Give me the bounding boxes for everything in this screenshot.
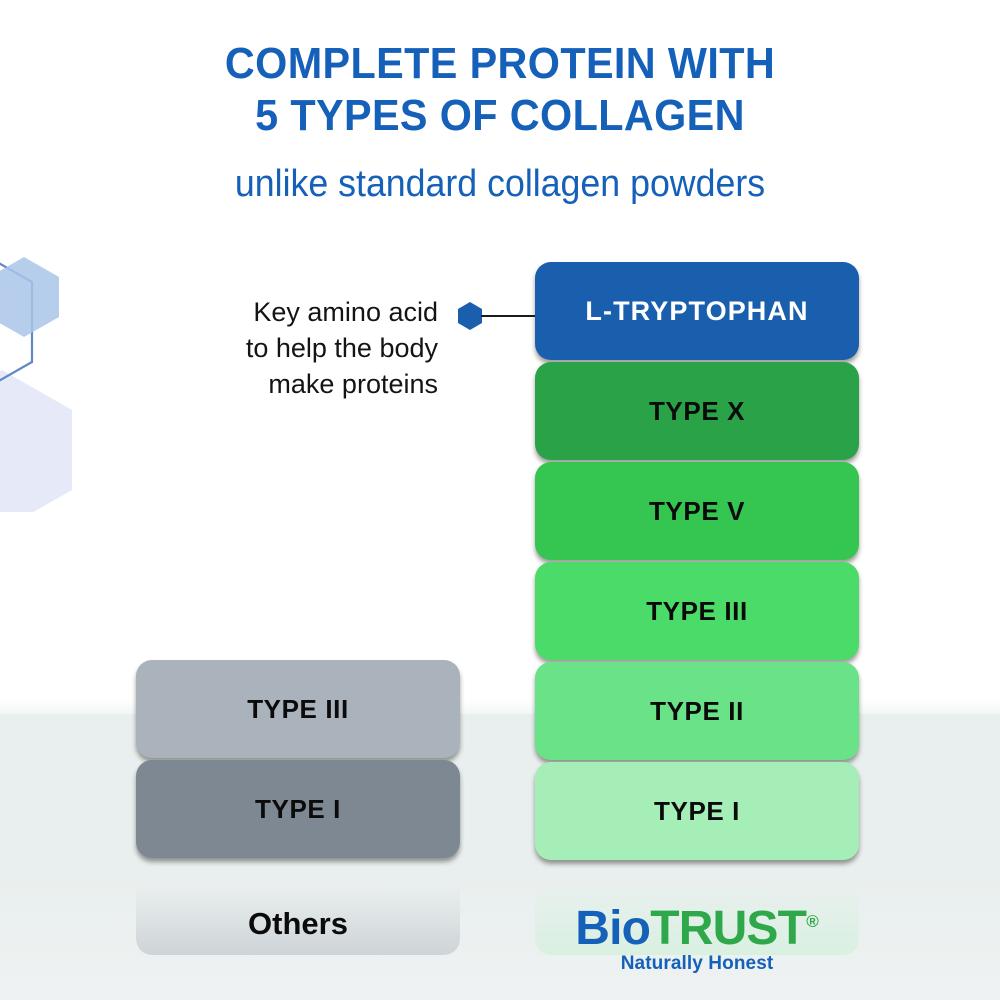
bar-label: L-TRYPTOPHAN	[585, 296, 808, 327]
hexagon-icon	[457, 302, 483, 330]
hexagon-large-fill-icon	[0, 370, 72, 512]
bar-label: TYPE III	[646, 596, 748, 627]
page-subtitle: unlike standard collagen powders	[30, 162, 970, 206]
bar-label: TYPE I	[654, 796, 740, 827]
bar-label: TYPE V	[649, 496, 745, 527]
bar-type-iii: TYPE III	[535, 562, 859, 660]
brand-wordmark-trust: TRUST	[650, 902, 806, 955]
callout-connector-line	[481, 315, 537, 317]
brand-tagline: Naturally Honest	[524, 953, 870, 975]
others-stack: TYPE IIITYPE I	[136, 660, 460, 860]
bar-type-i: TYPE I	[136, 760, 460, 858]
bar-type-i: TYPE I	[535, 762, 859, 860]
bar-label: TYPE X	[649, 396, 745, 427]
product-stack: L-TRYPTOPHANTYPE XTYPE VTYPE IIITYPE IIT…	[535, 262, 859, 862]
hexagon-outline-icon	[0, 242, 32, 402]
bar-type-ii: TYPE II	[535, 662, 859, 760]
bar-label: TYPE I	[255, 794, 341, 825]
bar-type-v: TYPE V	[535, 462, 859, 560]
brand-wordmark: BioTRUST®	[524, 896, 870, 955]
bar-l-tryptophan: L-TRYPTOPHAN	[535, 262, 859, 360]
bar-label: TYPE II	[650, 696, 744, 727]
brand-wordmark-bio: Bio	[575, 902, 650, 955]
bar-label: TYPE III	[247, 694, 349, 725]
registered-mark-icon: ®	[806, 912, 819, 931]
callout-text: Key amino acid to help the body make pro…	[200, 294, 438, 402]
hexagon-small-fill-icon	[0, 257, 59, 337]
page-title: COMPLETE PROTEIN WITH 5 TYPES OF COLLAGE…	[30, 38, 970, 142]
brand-logo: BioTRUST® Naturally Honest	[524, 896, 870, 975]
others-label: Others	[136, 906, 460, 942]
infographic-canvas: COMPLETE PROTEIN WITH 5 TYPES OF COLLAGE…	[0, 0, 1000, 1000]
headline-line-1: COMPLETE PROTEIN WITH	[225, 39, 775, 88]
decorative-hexagons	[0, 222, 144, 512]
bar-type-iii: TYPE III	[136, 660, 460, 758]
headline-line-2: 5 TYPES OF COLLAGEN	[30, 90, 970, 142]
bar-type-x: TYPE X	[535, 362, 859, 460]
